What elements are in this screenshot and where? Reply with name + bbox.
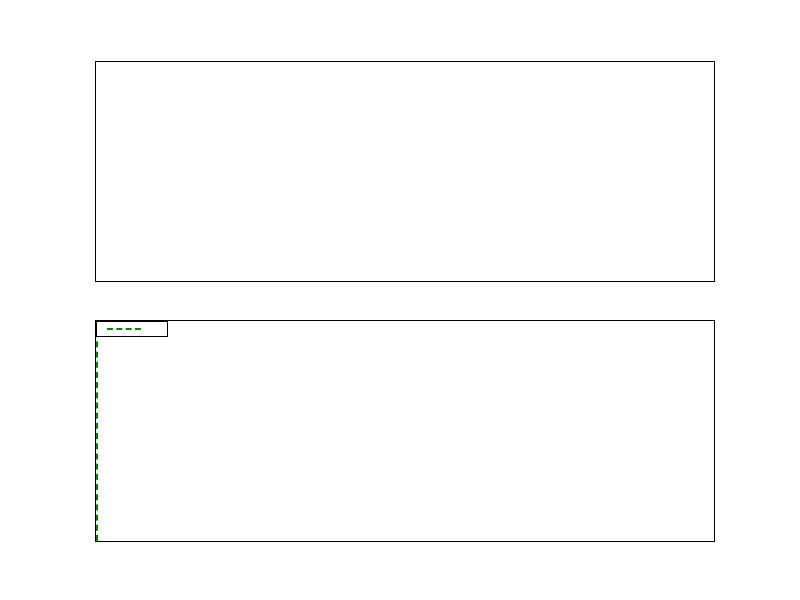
top-panel-y-tick-labels [36, 61, 88, 282]
bottom-panel-y-tick-labels [36, 320, 88, 542]
top-panel-histogram-axes [95, 61, 715, 282]
bottom-panel-plot-surface [96, 321, 714, 541]
mag-limit-legend-swatch [107, 328, 141, 330]
cumulative-curve [96, 321, 714, 541]
top-panel-plot-surface [96, 62, 714, 281]
top-panel-x-tick-labels [0, 283, 800, 305]
mag-limit-vline [96, 321, 98, 541]
bottom-panel-cumulative-axes [95, 320, 715, 542]
legend [96, 321, 168, 337]
matplotlib-figure [0, 0, 800, 600]
bottom-panel-x-tick-labels [0, 543, 800, 565]
